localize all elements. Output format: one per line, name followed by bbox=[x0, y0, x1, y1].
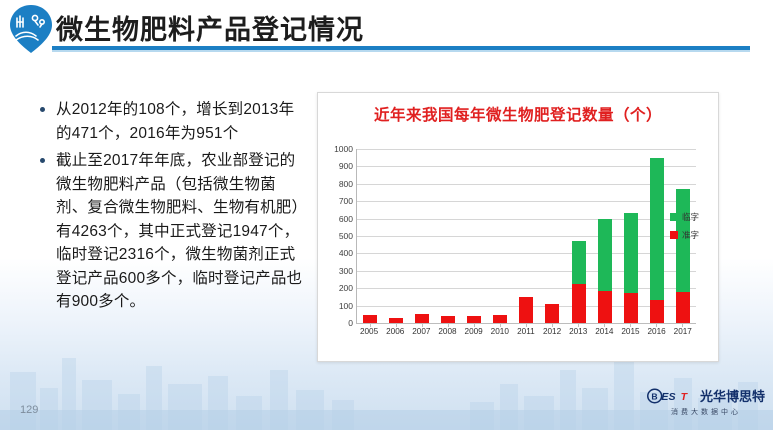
bar-segment-zhunzi bbox=[467, 316, 481, 323]
x-axis-tick-label: 2009 bbox=[462, 327, 486, 336]
page-title: 微生物肥料产品登记情况 bbox=[56, 8, 364, 47]
bar-series-group bbox=[357, 149, 696, 323]
bullet-item-2: 截止至2017年年底，农业部登记的微生物肥料产品（包括微生物菌剂、复合微生物肥料… bbox=[38, 149, 306, 314]
bar-segment-zhunzi bbox=[650, 300, 664, 323]
bar-column-2010[interactable] bbox=[493, 149, 507, 323]
bar-segment-zhunzi bbox=[441, 316, 455, 323]
legend-swatch-icon bbox=[670, 213, 678, 221]
bar-segment-zhunzi bbox=[598, 291, 612, 323]
y-axis-tick-label: 400 bbox=[339, 248, 353, 258]
svg-text:T: T bbox=[681, 390, 689, 402]
bar-column-2005[interactable] bbox=[363, 149, 377, 323]
brand-logo-mark: B ES T 光华博思特 bbox=[647, 386, 765, 405]
chart-card: 近年来我国每年微生物肥登记数量（个） 010020030040050060070… bbox=[317, 92, 719, 362]
legend-label: 准字 bbox=[682, 229, 699, 241]
legend-label: 临字 bbox=[682, 211, 699, 223]
bar-segment-linzi bbox=[598, 219, 612, 291]
legend-swatch-icon bbox=[670, 231, 678, 239]
y-axis-tick-label: 300 bbox=[339, 266, 353, 276]
bar-column-2012[interactable] bbox=[545, 149, 559, 323]
bar-column-2016[interactable] bbox=[650, 149, 664, 323]
bar-segment-zhunzi bbox=[545, 304, 559, 323]
bar-segment-zhunzi bbox=[493, 315, 507, 323]
bar-column-2013[interactable] bbox=[572, 149, 586, 323]
x-axis-tick-label: 2007 bbox=[409, 327, 433, 336]
y-axis-tick-label: 700 bbox=[339, 196, 353, 206]
best-wordmark-icon: B ES T bbox=[647, 388, 697, 404]
bar-column-2011[interactable] bbox=[519, 149, 533, 323]
y-axis-tick-label: 800 bbox=[339, 179, 353, 189]
bar-segment-zhunzi bbox=[415, 314, 429, 323]
legend-item-准字[interactable]: 准字 bbox=[670, 229, 716, 241]
chart-legend: 临字准字 bbox=[670, 211, 716, 247]
y-axis-labels: 01002003004005006007008009001000 bbox=[320, 149, 353, 323]
brand-name: 光华博思特 bbox=[700, 386, 765, 405]
bar-column-2014[interactable] bbox=[598, 149, 612, 323]
bar-segment-zhunzi bbox=[519, 297, 533, 323]
bullet-item-1: 从2012年的108个，增长到2013年的471个，2016年为951个 bbox=[38, 98, 306, 145]
bar-segment-linzi bbox=[572, 241, 586, 284]
bar-segment-zhunzi bbox=[363, 315, 377, 323]
x-axis-labels: 2005200620072008200920102011201220132014… bbox=[356, 327, 696, 336]
page-number: 129 bbox=[20, 404, 38, 416]
bar-column-2008[interactable] bbox=[441, 149, 455, 323]
x-axis-tick-label: 2012 bbox=[540, 327, 564, 336]
svg-text:ES: ES bbox=[661, 390, 675, 402]
legend-item-临字[interactable]: 临字 bbox=[670, 211, 716, 223]
bar-segment-zhunzi bbox=[572, 284, 586, 323]
bullet-list: 从2012年的108个，增长到2013年的471个，2016年为951个 截止至… bbox=[38, 98, 306, 318]
header-divider bbox=[52, 46, 750, 50]
svg-text:B: B bbox=[651, 391, 657, 401]
y-axis-tick-label: 0 bbox=[348, 318, 353, 328]
bar-column-2007[interactable] bbox=[415, 149, 429, 323]
bar-column-2015[interactable] bbox=[624, 149, 638, 323]
bar-column-2006[interactable] bbox=[389, 149, 403, 323]
x-axis-tick-label: 2014 bbox=[592, 327, 616, 336]
x-axis-tick-label: 2015 bbox=[618, 327, 642, 336]
y-axis-tick-label: 1000 bbox=[334, 144, 353, 154]
slide-canvas: 微生物肥料产品登记情况 从2012年的108个，增长到2013年的471个，20… bbox=[0, 0, 773, 430]
y-axis-tick-label: 900 bbox=[339, 161, 353, 171]
x-axis-tick-label: 2006 bbox=[383, 327, 407, 336]
x-axis-tick-label: 2005 bbox=[357, 327, 381, 336]
bar-segment-linzi bbox=[650, 158, 664, 301]
brand-logo: B ES T 光华博思特 消费大数据中心 bbox=[647, 386, 765, 426]
chart-title: 近年来我国每年微生物肥登记数量（个） bbox=[318, 103, 718, 125]
x-axis-tick-label: 2011 bbox=[514, 327, 538, 336]
y-axis-tick-label: 600 bbox=[339, 214, 353, 224]
x-axis-tick-label: 2016 bbox=[645, 327, 669, 336]
x-axis-tick-label: 2008 bbox=[435, 327, 459, 336]
chart-plot-area: 01002003004005006007008009001000 bbox=[356, 149, 696, 323]
x-axis-tick-label: 2010 bbox=[488, 327, 512, 336]
y-axis-tick-label: 500 bbox=[339, 231, 353, 241]
y-axis-tick-label: 200 bbox=[339, 283, 353, 293]
bar-segment-zhunzi bbox=[676, 292, 690, 323]
brand-tagline: 消费大数据中心 bbox=[647, 407, 765, 417]
x-axis-tick-label: 2017 bbox=[671, 327, 695, 336]
bar-segment-linzi bbox=[624, 213, 638, 292]
bar-segment-zhunzi bbox=[624, 293, 638, 323]
x-axis-tick-label: 2013 bbox=[566, 327, 590, 336]
bar-column-2009[interactable] bbox=[467, 149, 481, 323]
y-axis-tick-label: 100 bbox=[339, 301, 353, 311]
organization-logo bbox=[8, 4, 54, 54]
